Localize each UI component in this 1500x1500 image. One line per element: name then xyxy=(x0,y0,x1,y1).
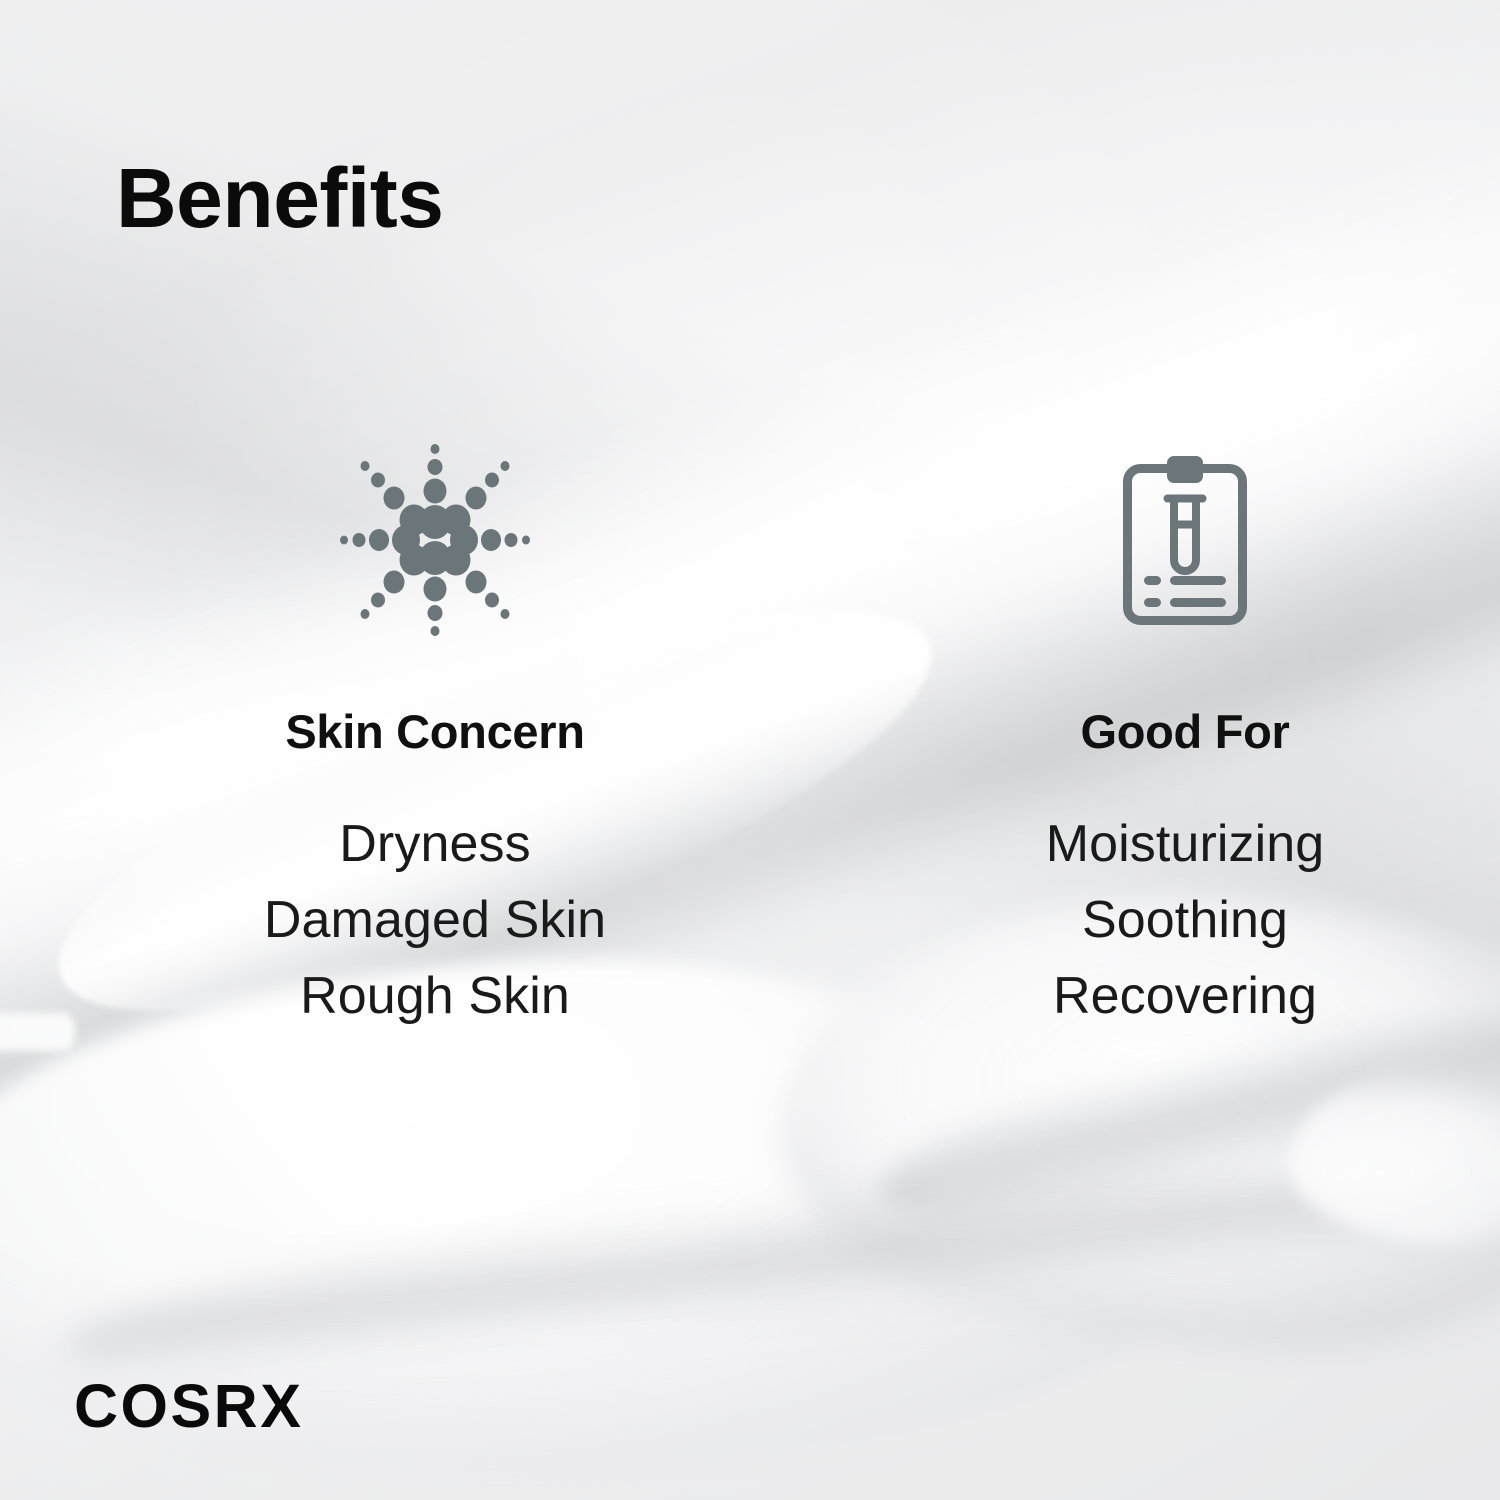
column-heading-skin-concern: Skin Concern xyxy=(285,708,584,755)
benefits-infographic: Benefits xyxy=(0,0,1500,1500)
clipboard-test-tube-icon xyxy=(1122,440,1248,640)
sparkle-starburst-icon xyxy=(340,440,530,640)
benefit-column-good-for: Good For Moisturizing Soothing Recoverin… xyxy=(870,440,1500,1035)
column-heading-good-for: Good For xyxy=(1080,708,1289,755)
page-title: Benefits xyxy=(116,156,443,240)
list-item: Soothing xyxy=(1046,883,1325,959)
list-item: Dryness xyxy=(264,807,606,883)
brand-logo-cosrx: COSRX xyxy=(74,1376,303,1437)
list-item: Rough Skin xyxy=(264,959,606,1035)
benefit-column-skin-concern: Skin Concern Dryness Damaged Skin Rough … xyxy=(0,440,870,1035)
skin-concern-list: Dryness Damaged Skin Rough Skin xyxy=(264,807,606,1035)
list-item: Damaged Skin xyxy=(264,883,606,959)
list-item: Moisturizing xyxy=(1046,807,1325,883)
benefits-columns: Skin Concern Dryness Damaged Skin Rough … xyxy=(0,440,1500,1035)
list-item: Recovering xyxy=(1046,959,1325,1035)
good-for-list: Moisturizing Soothing Recovering xyxy=(1046,807,1325,1035)
